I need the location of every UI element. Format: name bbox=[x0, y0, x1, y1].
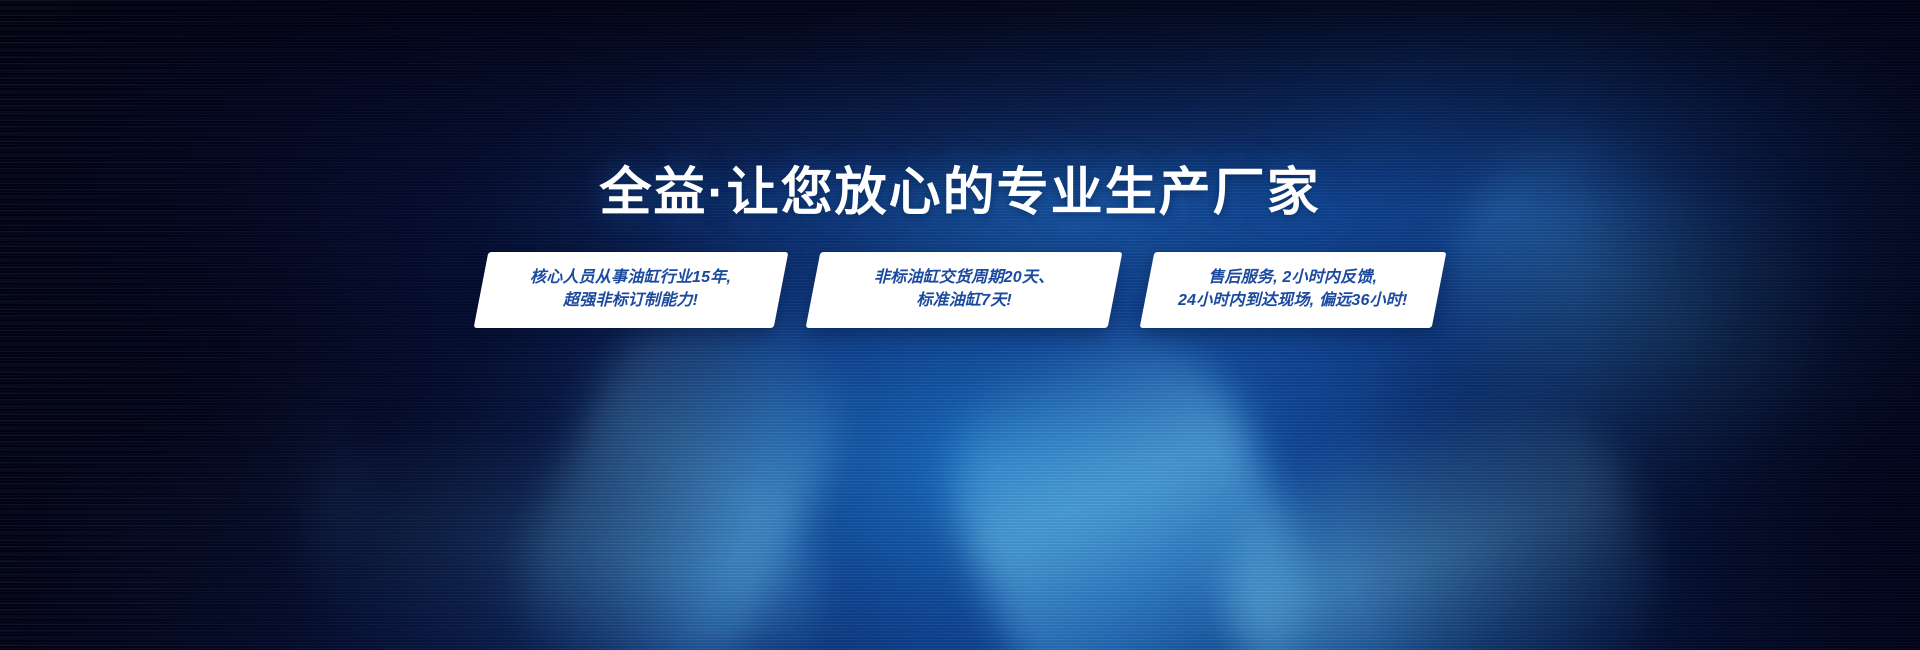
feature-card-text: 核心人员从事油缸行业15年, 超强非标订制能力! bbox=[530, 267, 731, 312]
hero-banner: 全益·让您放心的专业生产厂家 核心人员从事油缸行业15年, 超强非标订制能力! … bbox=[0, 0, 1920, 650]
feature-card-delivery[interactable]: 非标油缸交货周期20天、 标准油缸7天! bbox=[806, 252, 1123, 328]
feature-card-list: 核心人员从事油缸行业15年, 超强非标订制能力! 非标油缸交货周期20天、 标准… bbox=[0, 252, 1920, 328]
feature-card-line-2: 超强非标订制能力! bbox=[530, 290, 731, 313]
banner-content: 全益·让您放心的专业生产厂家 核心人员从事油缸行业15年, 超强非标订制能力! … bbox=[0, 0, 1920, 650]
feature-card-line-2: 24小时内到达现场, 偏远36小时! bbox=[1178, 290, 1407, 313]
feature-card-line-1: 售后服务, 2小时内反馈, bbox=[1178, 267, 1407, 290]
feature-card-after-sales[interactable]: 售后服务, 2小时内反馈, 24小时内到达现场, 偏远36小时! bbox=[1140, 252, 1447, 328]
feature-card-text: 售后服务, 2小时内反馈, 24小时内到达现场, 偏远36小时! bbox=[1178, 267, 1407, 312]
feature-card-text: 非标油缸交货周期20天、 标准油缸7天! bbox=[874, 267, 1054, 312]
feature-card-line-2: 标准油缸7天! bbox=[874, 290, 1054, 313]
banner-headline: 全益·让您放心的专业生产厂家 bbox=[0, 163, 1920, 224]
feature-card-line-1: 核心人员从事油缸行业15年, bbox=[530, 267, 731, 290]
feature-card-experience[interactable]: 核心人员从事油缸行业15年, 超强非标订制能力! bbox=[474, 252, 789, 328]
feature-card-line-1: 非标油缸交货周期20天、 bbox=[874, 267, 1054, 290]
